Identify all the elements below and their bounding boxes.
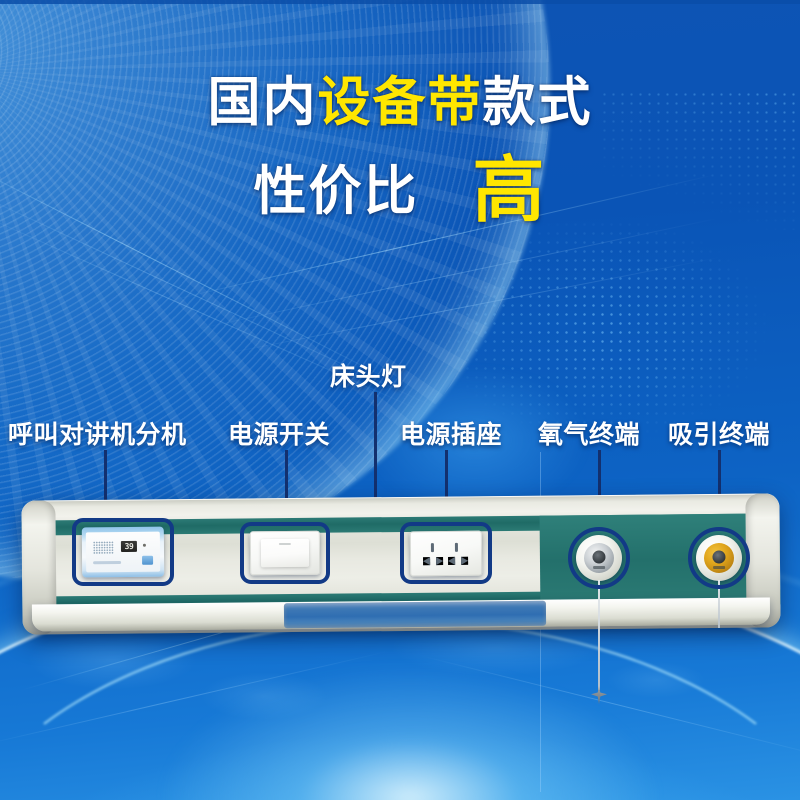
callout-label-power-switch: 电源开关	[228, 415, 330, 451]
highlight-circle-oxygen	[568, 527, 630, 589]
headline-seg-style: 款式	[483, 73, 593, 132]
callout-label-oxygen-terminal: 氧气终端	[538, 415, 640, 451]
callout-label-power-socket: 电源插座	[400, 415, 502, 451]
highlight-box-power-switch	[240, 522, 330, 584]
headline-block: 国内设备带款式 性价比高	[0, 76, 800, 227]
headline-seg-high: 高	[472, 151, 546, 231]
headline-line-2: 性价比高	[0, 155, 800, 227]
light-streak	[420, 655, 800, 762]
oxygen-pull-cord	[598, 580, 600, 690]
headline-line-1: 国内设备带款式	[0, 76, 800, 129]
callout-label-intercom: 呼叫对讲机分机	[8, 415, 187, 451]
banner-stage: 国内设备带款式 性价比高 呼叫对讲机分机 电源开关 床头灯 电源插座 氧气终端 …	[0, 0, 800, 800]
headline-seg-value-ratio: 性价比	[253, 162, 418, 221]
light-streak	[0, 651, 389, 746]
highlight-box-power-socket	[400, 522, 492, 584]
bed-lamp-strip[interactable]	[284, 601, 546, 629]
callout-label-bed-lamp: 床头灯	[330, 357, 407, 393]
highlight-circle-suction	[688, 527, 750, 589]
headline-seg-equipment-band: 设备带	[318, 73, 483, 132]
callout-label-suction-terminal: 吸引终端	[668, 415, 770, 451]
headline-seg-domestic: 国内	[208, 73, 318, 132]
highlight-box-intercom	[72, 518, 174, 586]
